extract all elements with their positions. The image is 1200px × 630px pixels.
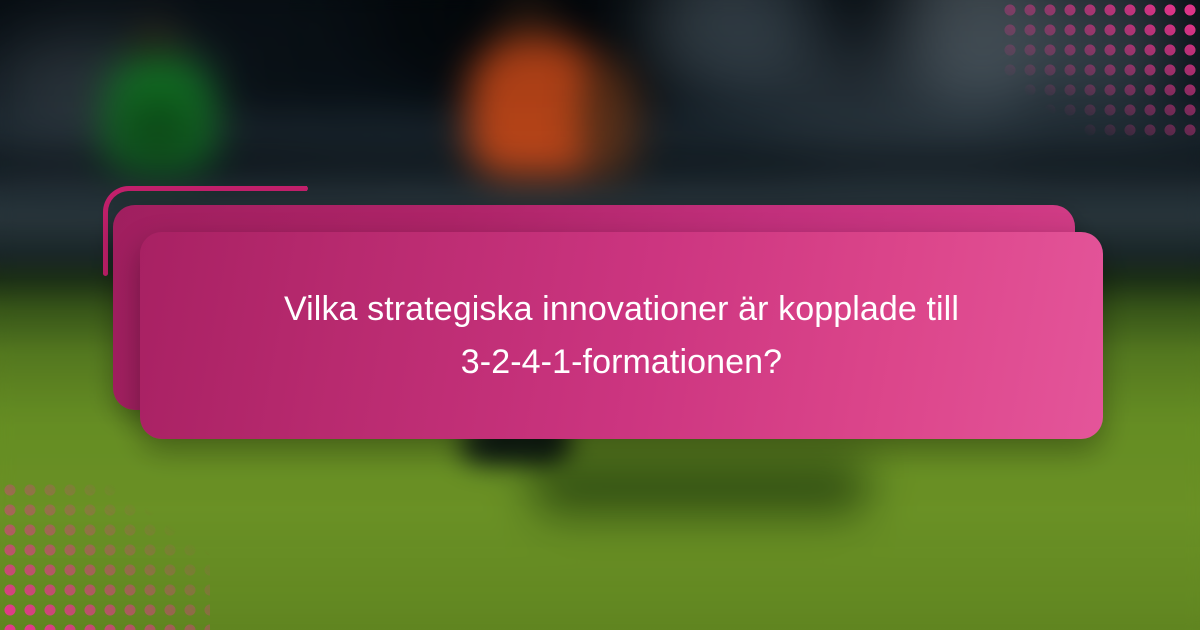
card-stack: Vilka strategiska innovationer är koppla… <box>103 186 1103 444</box>
question-card: Vilka strategiska innovationer är koppla… <box>140 232 1103 439</box>
question-line-2: 3-2-4-1-formationen? <box>202 336 1042 389</box>
question-card-graphic: Vilka strategiska innovationer är koppla… <box>0 0 1200 630</box>
question-text: Vilka strategiska innovationer är koppla… <box>202 283 1042 388</box>
question-line-1: Vilka strategiska innovationer är koppla… <box>202 283 1042 336</box>
